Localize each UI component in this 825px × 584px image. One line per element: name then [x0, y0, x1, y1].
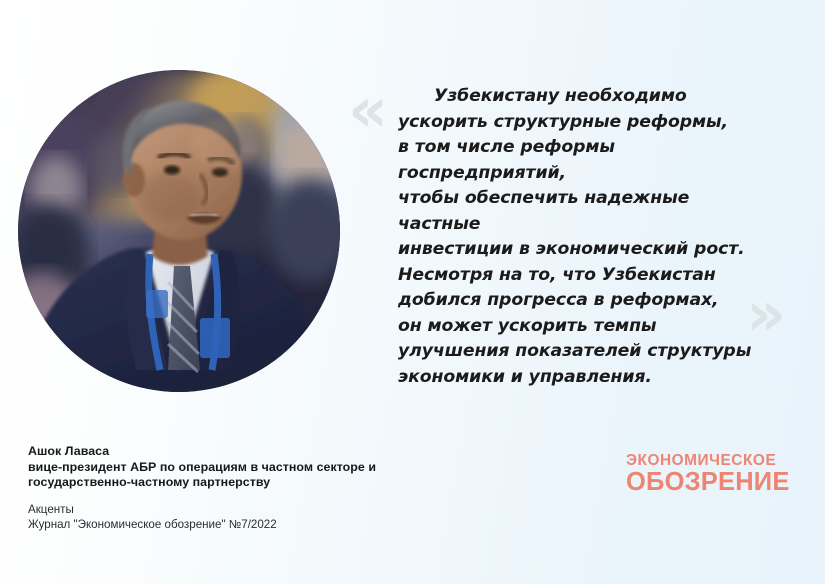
quote-close-icon: » [746, 283, 779, 345]
logo-line-bottom: ОБОЗРЕНИЕ [626, 469, 790, 495]
speaker-portrait [18, 70, 340, 392]
logo-line-top: ЭКОНОМИЧЕСКОЕ [626, 452, 790, 469]
source-label: Журнал "Экономическое обозрение" №7/2022 [28, 517, 428, 532]
quote-open-icon: « [348, 79, 381, 141]
portrait-image [18, 70, 340, 392]
section-label: Акценты [28, 502, 428, 517]
attribution: Ашок Лаваса вице-президент АБР по операц… [28, 444, 428, 533]
quote-text: Узбекистану необходимо ускорить структур… [398, 84, 770, 390]
publication-logo: ЭКОНОМИЧЕСКОЕ ОБОЗРЕНИЕ [626, 452, 790, 495]
speaker-name: Ашок Лаваса [28, 444, 428, 460]
speaker-role: вице-президент АБР по операциям в частно… [28, 460, 428, 491]
quote-card: « Узбекистану необходимо ускорить структ… [0, 0, 825, 584]
